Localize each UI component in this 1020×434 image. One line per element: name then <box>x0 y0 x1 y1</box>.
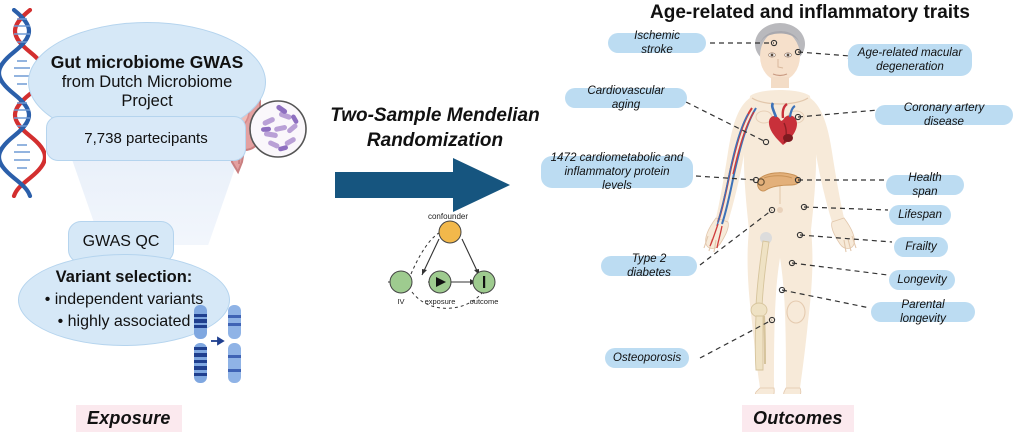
trait-pill-cardiovascular-aging: Cardiovascular aging <box>565 88 687 108</box>
trait-pill-longevity: Longevity <box>889 270 955 290</box>
method-title-line1: Two-Sample Mendelian <box>330 105 539 126</box>
mr-dag-diagram: confounder IV exposure outcome <box>378 208 518 318</box>
right-arrow-icon <box>335 158 510 212</box>
chromosome-pair-icon <box>190 303 246 385</box>
dag-outcome-label: outcome <box>470 297 499 306</box>
trait-pill-coronary-artery-disease: Coronary artery disease <box>875 105 1013 125</box>
trait-pill-osteoporosis: Osteoporosis <box>605 348 689 368</box>
dag-confounder-label: confounder <box>428 212 468 221</box>
trait-pill-age-related-macular-degeneration: Age-related maculardegeneration <box>848 44 972 76</box>
exposure-tag: Exposure <box>76 405 182 432</box>
gwas-title-line3: Project <box>121 92 172 111</box>
trait-pill-type-2-diabetes: Type 2 diabetes <box>601 256 697 276</box>
method-title: Two-Sample Mendelian Randomization <box>310 104 560 153</box>
variant-selection-title: Variant selection: <box>19 268 229 287</box>
trait-pill-lifespan: Lifespan <box>889 205 951 225</box>
dag-iv-label: IV <box>397 297 404 306</box>
trait-pill-health-span: Health span <box>886 175 964 195</box>
bacteria-magnifier-icon <box>248 99 308 159</box>
participants-band: 7,738 partecipants <box>46 116 246 161</box>
gwas-title-line1: Gut microbiome GWAS <box>51 52 244 73</box>
trait-pill-frailty: Frailty <box>894 237 948 257</box>
method-title-line2: Randomization <box>367 130 503 151</box>
outcomes-tag: Outcomes <box>742 405 854 432</box>
dag-exposure-label: exposure <box>425 297 456 306</box>
trait-pill-1472-cardiometabolic-and-inflammatory-protein-levels: 1472 cardiometabolic andinflammatory pro… <box>541 156 693 188</box>
graphical-abstract: Gut microbiome GWAS from Dutch Microbiom… <box>0 0 1020 434</box>
gwas-title-line2: from Dutch Microbiome <box>62 73 233 92</box>
trait-pill-ischemic-stroke: Ischemic stroke <box>608 33 706 53</box>
trait-pill-parental-longevity: Parental longevity <box>871 302 975 322</box>
